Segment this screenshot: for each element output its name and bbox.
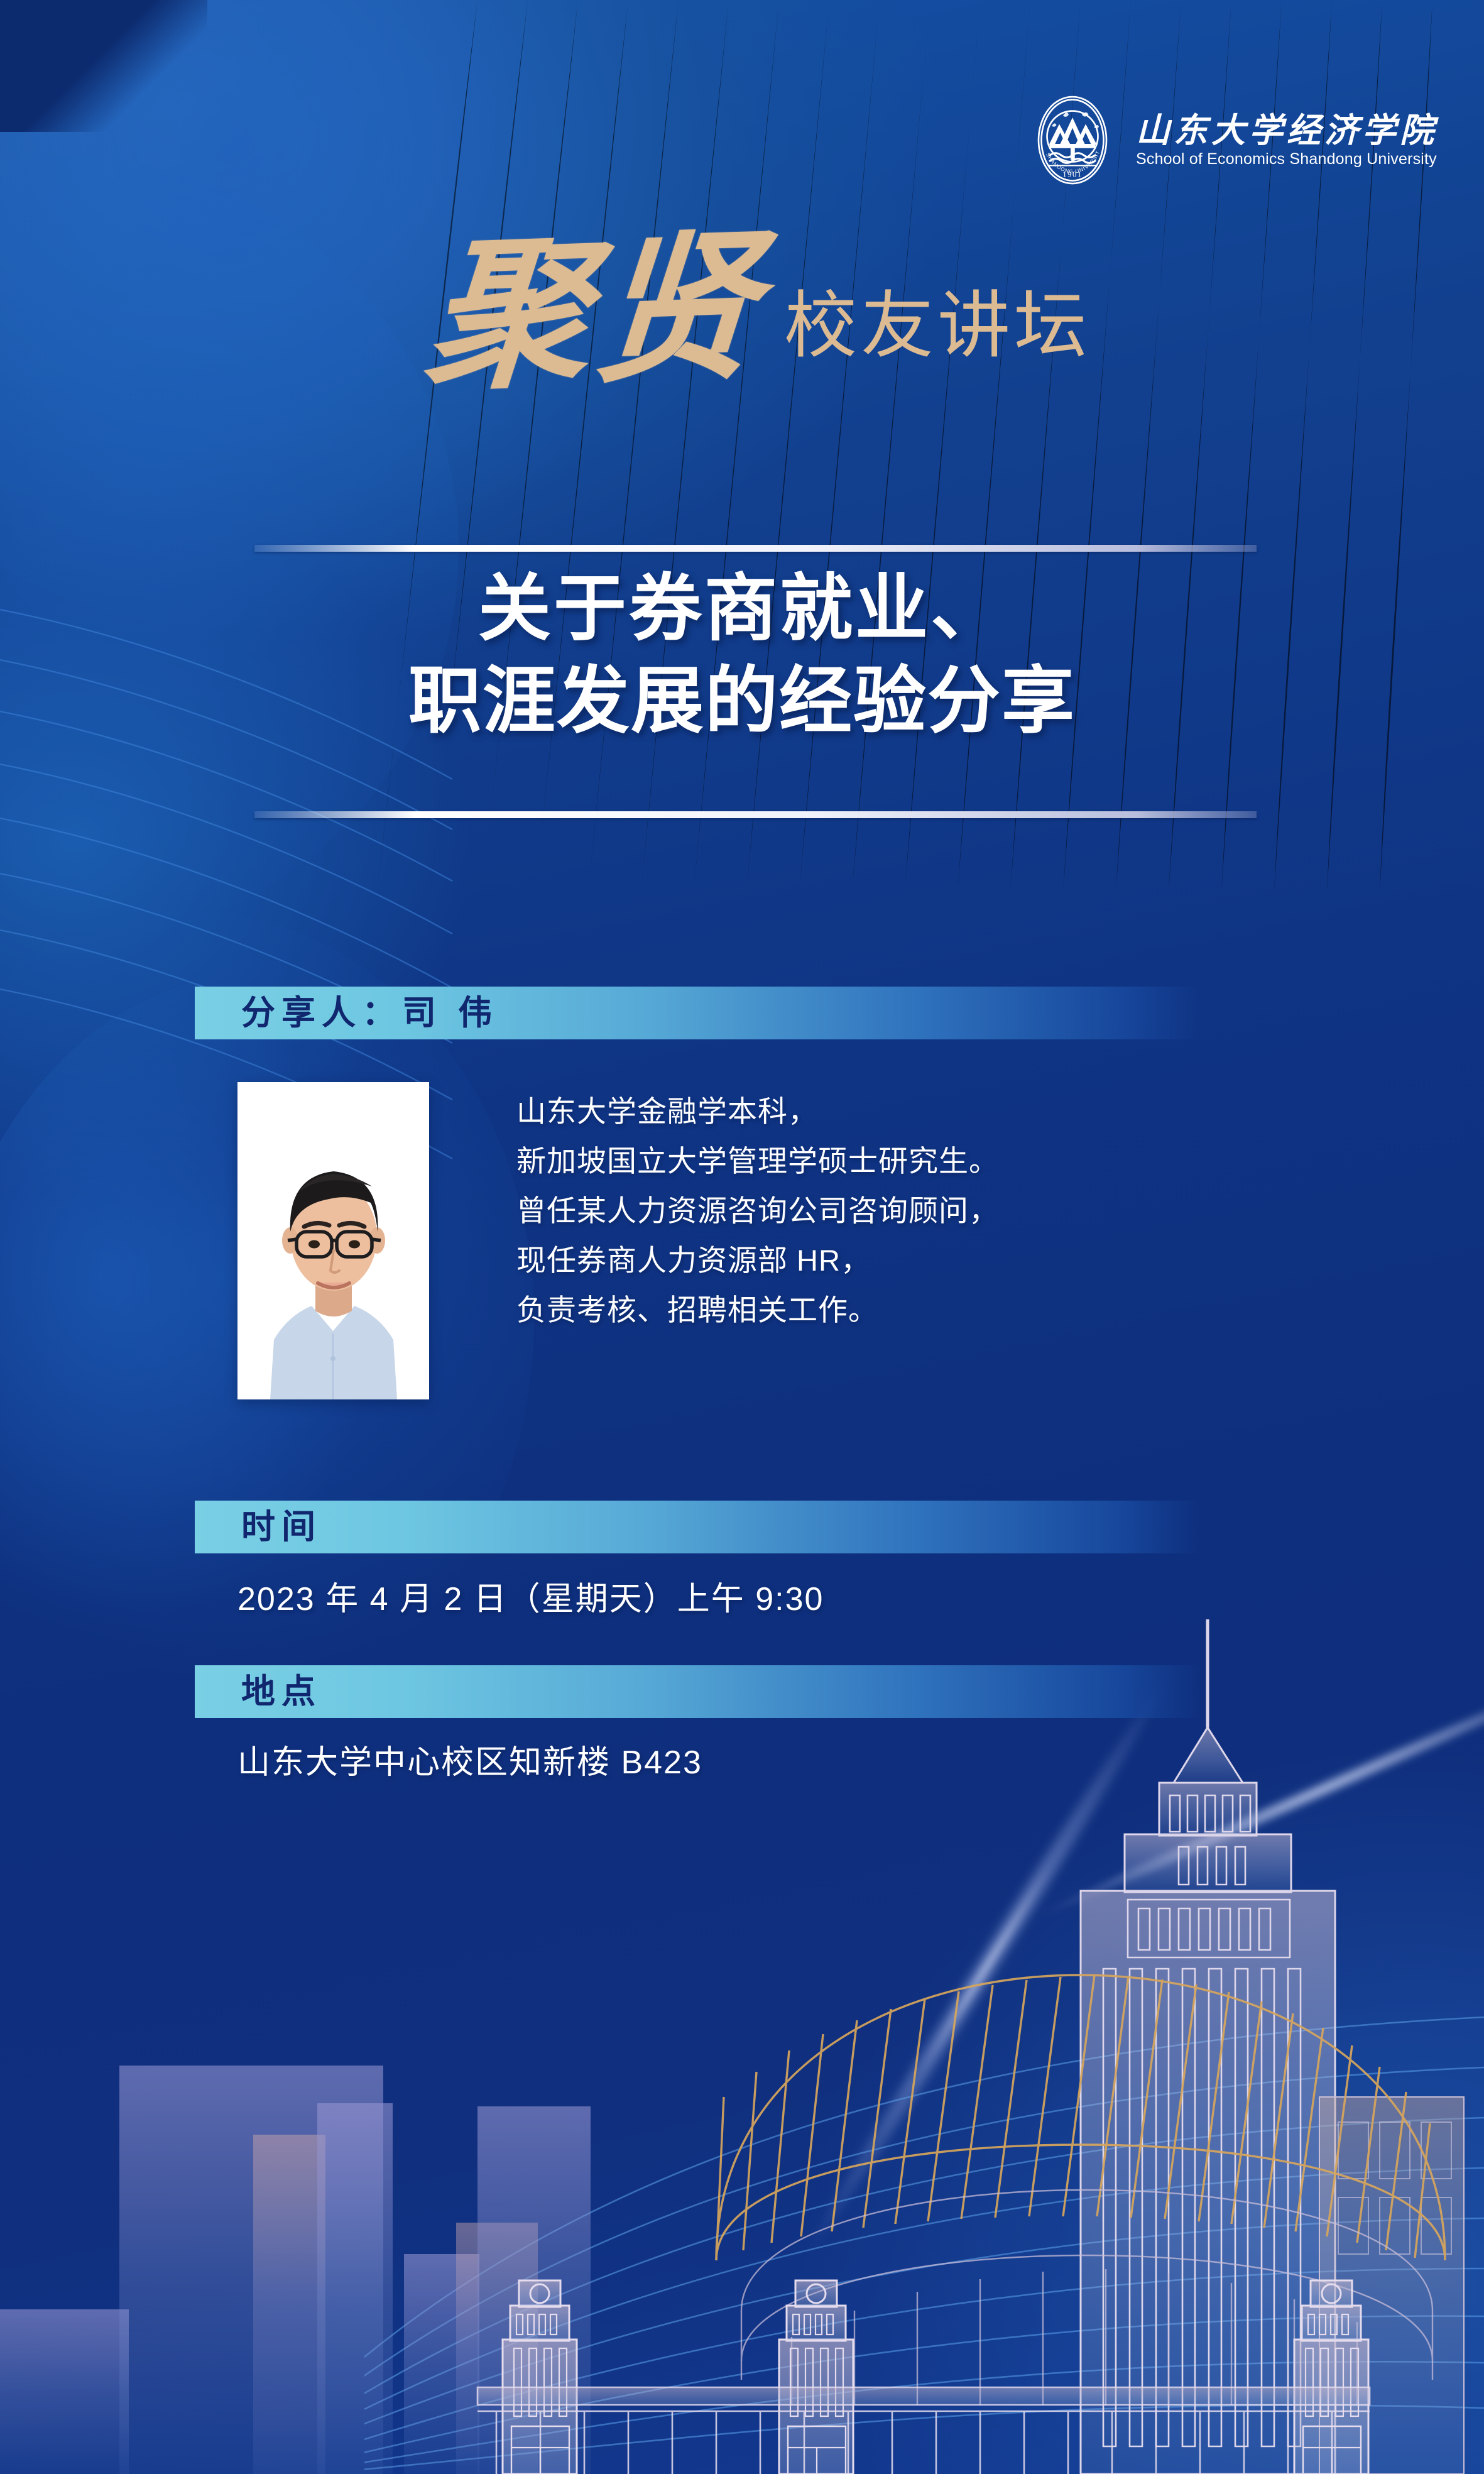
- bg-corner-shade: [0, 0, 207, 132]
- place-band-label: 地点: [241, 1675, 322, 1709]
- speaker-portrait-photo: [237, 1082, 429, 1399]
- speaker-band-label: 分享人：司 伟: [241, 996, 498, 1030]
- cityscape-illustration: [0, 1594, 1484, 2474]
- speaker-bio: 山东大学金融学本科， 新加坡国立大学管理学硕士研究生。 曾任某人力资源咨询公司咨…: [516, 1087, 1258, 1335]
- brand-calligraphy-main: 聚贤: [422, 233, 765, 395]
- time-value: 2023 年 4 月 2 日（星期天）上午 9:30: [237, 1572, 824, 1619]
- bio-line-1: 山东大学金融学本科，: [516, 1087, 1258, 1137]
- bio-line-3: 曾任某人力资源咨询公司咨询顾问，: [516, 1186, 1258, 1236]
- school-name-block: 山东大学经济学院 School of Economics Shandong Un…: [1136, 114, 1438, 167]
- shandong-university-seal-icon: 1901 SHANDONG UNIVERSITY: [1025, 93, 1120, 187]
- headline-divider-top: [254, 545, 1257, 552]
- poster-canvas: 1901 SHANDONG UNIVERSITY 山东大学经济学院 School…: [0, 0, 1484, 2474]
- gate-building-center: [779, 2280, 853, 2474]
- speaker-portrait-illustration: [237, 1082, 429, 1399]
- place-band: 地点: [195, 1665, 1200, 1718]
- time-band-label: 时间: [241, 1510, 322, 1544]
- speaker-band: 分享人：司 伟: [195, 987, 1200, 1039]
- bio-line-2: 新加坡国立大学管理学硕士研究生。: [516, 1137, 1258, 1186]
- poster-header: 1901 SHANDONG UNIVERSITY 山东大学经济学院 School…: [1025, 93, 1438, 187]
- bio-line-4: 现任券商人力资源部 HR，: [516, 1236, 1258, 1286]
- time-band: 时间: [195, 1501, 1200, 1553]
- headline-line-2: 职涯发展的经验分享: [0, 655, 1484, 747]
- school-name-cn: 山东大学经济学院: [1136, 114, 1438, 148]
- headline-line-1: 关于券商就业、: [0, 562, 1484, 655]
- school-name-en: School of Economics Shandong University: [1136, 151, 1437, 167]
- bio-line-5: 负责考核、招聘相关工作。: [516, 1286, 1258, 1335]
- headline-title: 关于券商就业、 职涯发展的经验分享: [0, 562, 1484, 748]
- brand-subtitle: 校友讲坛: [784, 289, 1091, 390]
- headline-divider-bottom: [254, 811, 1257, 818]
- forum-brand: 聚贤 校友讲坛: [427, 239, 1091, 390]
- place-value: 山东大学中心校区知新楼 B423: [237, 1736, 702, 1783]
